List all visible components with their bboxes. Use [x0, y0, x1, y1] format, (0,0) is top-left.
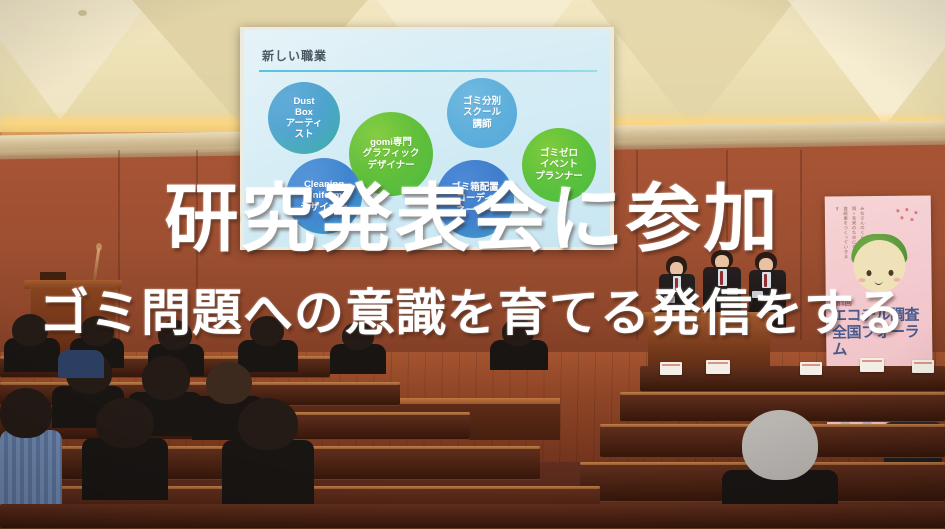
- screenshot-root: 新しい職業 Dust Box アーティ スト gomi専門 グラフィック デザイ…: [0, 0, 945, 529]
- slide-bubble-gomi-graphic-designer: gomi専門 グラフィック デザイナー: [349, 112, 433, 196]
- bubble-line: デザイナー: [300, 202, 347, 213]
- slide-bubble-gomibako-coordinator: ゴミ箱配置 コーディ ネーター: [436, 160, 514, 238]
- slide-bubble-dust-box-artist: Dust Box アーティ スト: [268, 82, 340, 154]
- bubble-line: グラフィック: [363, 148, 420, 159]
- bubble-line: Cleaning: [300, 179, 347, 190]
- bubble-line: コーディ: [451, 193, 499, 204]
- wall-seam: [118, 150, 120, 340]
- bubble-line: 講師: [463, 119, 501, 130]
- bubble-line: Box: [286, 107, 323, 118]
- presenter-tie: [720, 271, 723, 285]
- mascot-blush: [894, 278, 901, 282]
- lectern: [30, 286, 116, 370]
- ceiling-facet-4: [760, 0, 945, 126]
- bubble-line: スクール: [463, 107, 501, 118]
- bubble-line: Dust: [286, 96, 323, 107]
- bubble-line: ゴミ箱配置: [451, 182, 499, 193]
- bubble-line: ゴミ分別: [463, 96, 501, 107]
- presenter-name-badge: [752, 291, 763, 298]
- bubble-line: Uniform: [300, 190, 347, 201]
- mascot-blush: [859, 278, 866, 282]
- presenter-name-badge: [727, 288, 738, 295]
- mascot-eye-icon: [888, 270, 893, 276]
- ceiling-vent-icon: [78, 10, 87, 16]
- bubble-line: スト: [286, 129, 323, 140]
- bubble-line: デザイナー: [363, 160, 420, 171]
- banner-date: 11.1: [833, 366, 858, 381]
- operator-body: [884, 422, 942, 470]
- slide-title: 新しい職業: [262, 47, 327, 64]
- slide-title-underline: [259, 70, 597, 72]
- banner-title: エコチル調査 全国フォーラム: [832, 307, 933, 358]
- bubble-line: プランナー: [535, 171, 583, 182]
- wall-seam: [800, 150, 802, 340]
- projection-screen: 新しい職業 Dust Box アーティ スト gomi専門 グラフィック デザイ…: [240, 27, 614, 250]
- mascot-eye-icon: [866, 270, 871, 276]
- wall-seam: [196, 150, 198, 340]
- banner-confetti-dots: [895, 208, 923, 226]
- presenter-tie: [675, 278, 678, 291]
- bubble-line: アーティ: [286, 118, 323, 129]
- bubble-line: ネーター: [451, 205, 499, 216]
- wall-seam: [636, 150, 638, 340]
- stage-front-panel: [0, 404, 560, 440]
- slide-bubble-gomi-zero-event-planner: ゴミゼロ イベント プランナー: [522, 128, 596, 202]
- bubble-line: イベント: [535, 159, 583, 170]
- presenter-tie: [764, 274, 767, 287]
- slide-bubble-cleaning-uniform-designer: Cleaning Uniform デザイナー: [286, 158, 362, 234]
- slide-canvas: 新しい職業 Dust Box アーティ スト gomi専門 グラフィック デザイ…: [244, 30, 610, 247]
- bubble-line: gomi専門: [363, 137, 420, 148]
- podium: [648, 318, 770, 374]
- bubble-line: ゴミゼロ: [535, 148, 583, 159]
- slide-bubble-gomi-school-koushi: ゴミ分別 スクール 講師: [447, 78, 517, 148]
